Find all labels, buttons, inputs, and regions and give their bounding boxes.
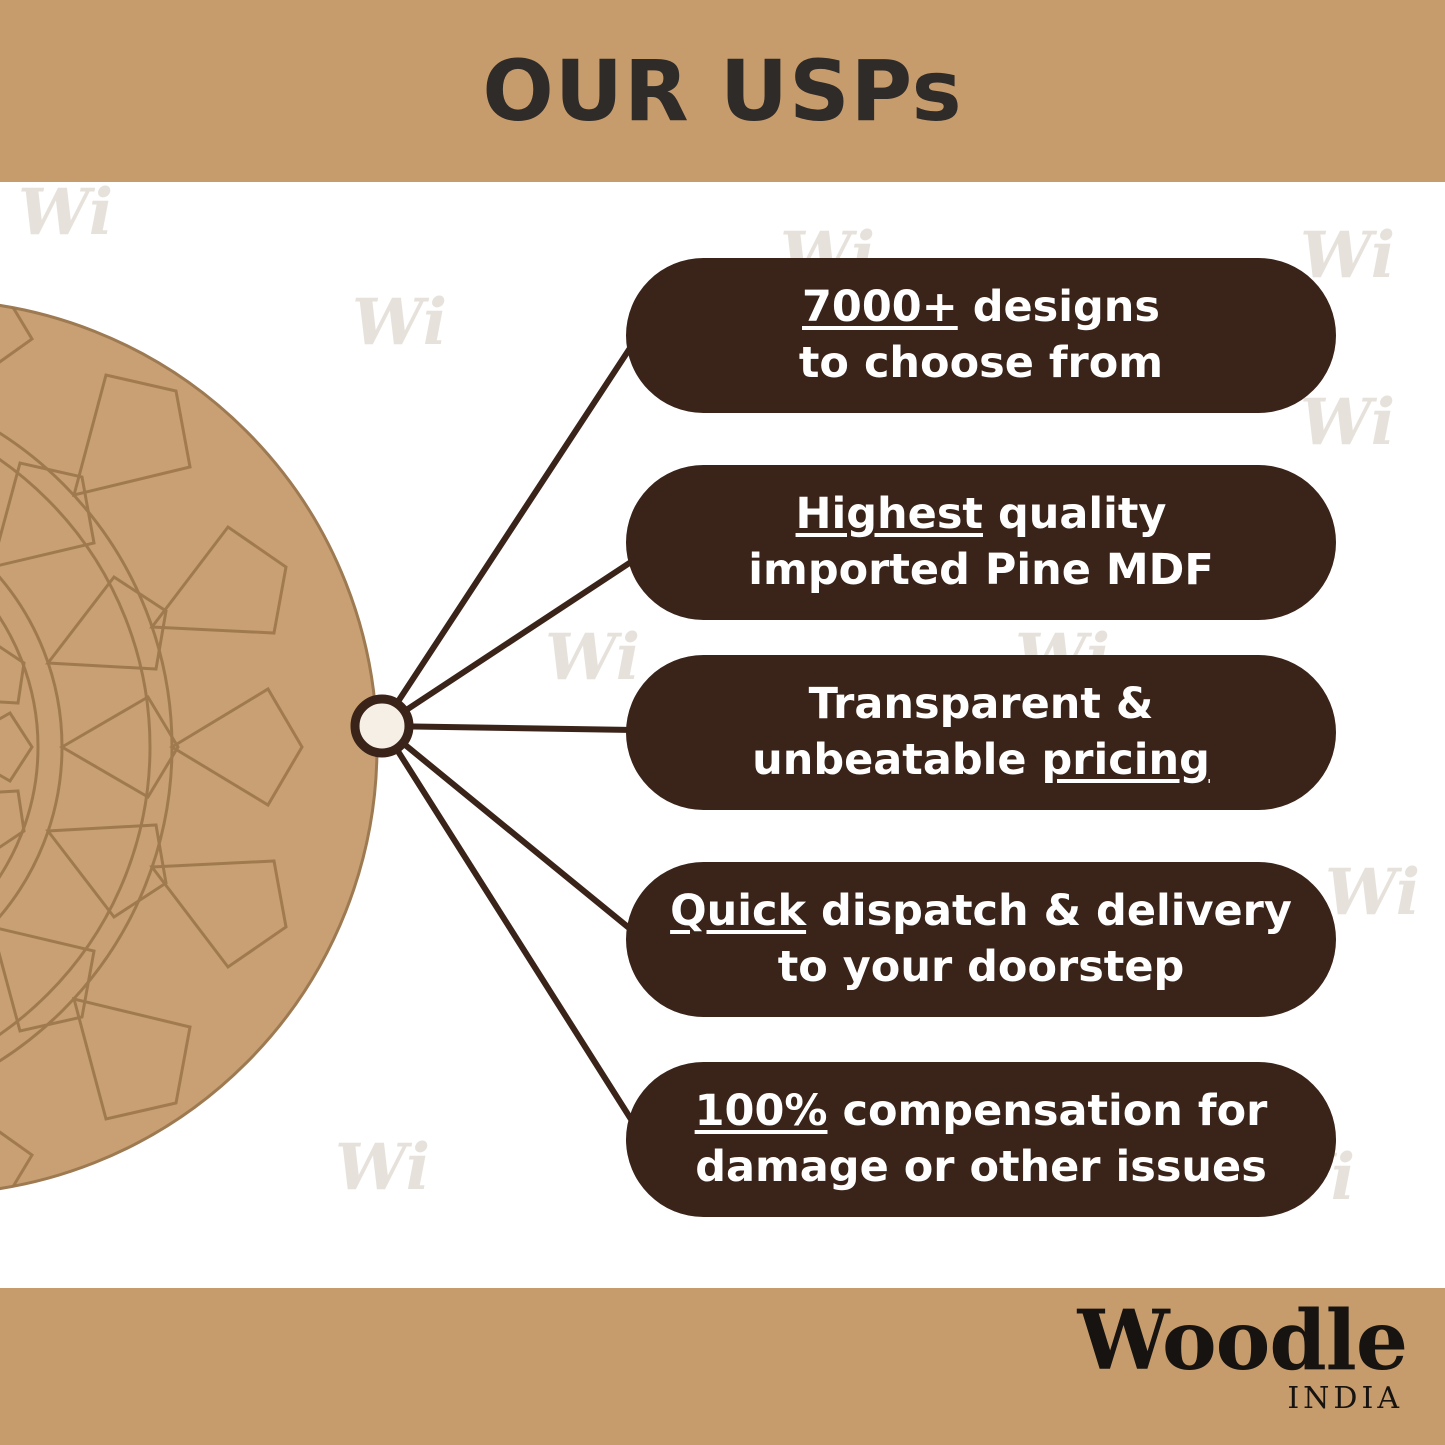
footer-banner: Woodle INDIA	[0, 1288, 1445, 1445]
usp-line-2: damage or other issues	[695, 1140, 1267, 1195]
brand-logo: Woodle INDIA	[1078, 1300, 1407, 1414]
usp-pill-quality[interactable]: Highest quality imported Pine MDF	[626, 465, 1336, 620]
infographic-canvas: Wi Wi Wi Wi Wi Wi Wi Wi Wi Wi	[0, 0, 1445, 1445]
page-title: OUR USPs	[482, 42, 962, 140]
watermark-tile: Wi	[18, 175, 113, 250]
usp-pill-designs[interactable]: 7000+ designs to choose from	[626, 258, 1336, 413]
usp-line-2: to choose from	[799, 336, 1163, 391]
usp-line-2: unbeatable pricing	[752, 733, 1210, 788]
usp-pill-dispatch[interactable]: Quick dispatch & delivery to your doorst…	[626, 862, 1336, 1017]
watermark-tile: Wi	[1325, 855, 1420, 930]
usp-pill-pricing[interactable]: Transparent & unbeatable pricing	[626, 655, 1336, 810]
usp-pill-compensation[interactable]: 100% compensation for damage or other is…	[626, 1062, 1336, 1217]
usp-line-2: to your doorstep	[778, 940, 1185, 995]
usp-line-1: Transparent &	[809, 677, 1154, 732]
brand-name: Woodle	[1078, 1300, 1407, 1382]
watermark-tile: Wi	[1300, 385, 1395, 460]
usp-line-2: imported Pine MDF	[748, 543, 1213, 598]
usp-line-1: 100% compensation for	[695, 1084, 1268, 1139]
usp-line-1: 7000+ designs	[802, 280, 1160, 335]
watermark-tile: Wi	[545, 620, 640, 695]
usp-line-1: Highest quality	[796, 487, 1167, 542]
usp-line-1: Quick dispatch & delivery	[670, 884, 1292, 939]
product-image-mandala-disc	[0, 300, 440, 1195]
header-banner: OUR USPs	[0, 0, 1445, 182]
